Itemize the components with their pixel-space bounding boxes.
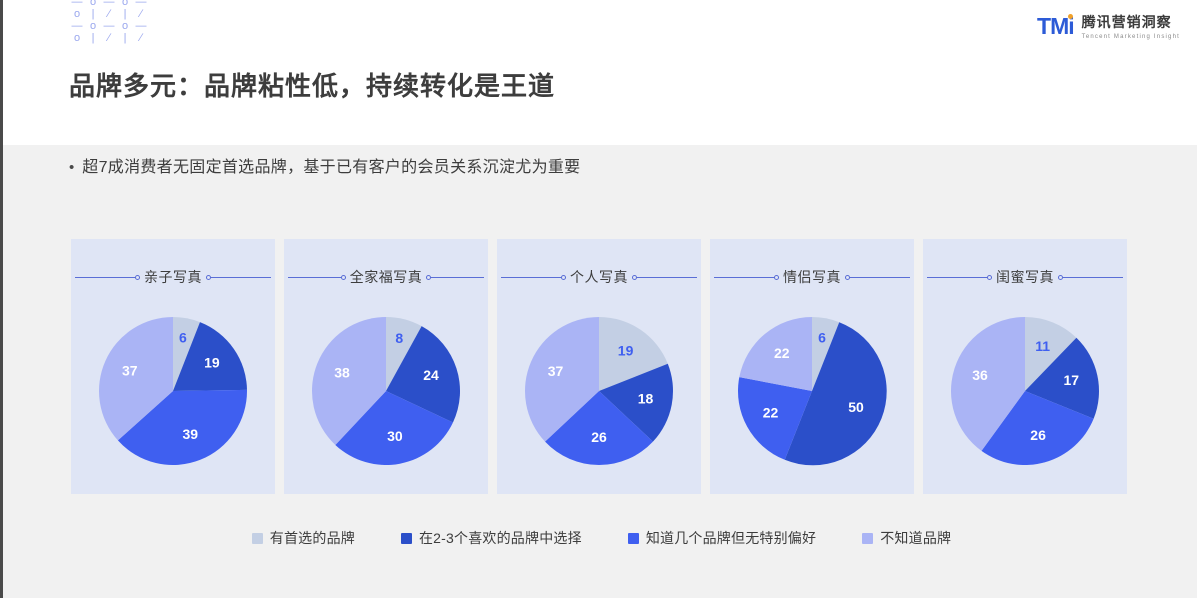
decorative-glyph: o xyxy=(69,8,85,20)
tmi-logo: TMi 腾讯营销洞察 Tencent Marketing Insight xyxy=(1037,12,1180,40)
legend-swatch-icon xyxy=(862,533,873,544)
pie-slice-value-label: 38 xyxy=(334,364,350,380)
card-title-bar: 情侣写真 xyxy=(710,267,914,287)
title-marker-right-icon xyxy=(845,275,850,280)
card-title-bar: 个人写真 xyxy=(497,267,701,287)
pie-slice-value-label: 18 xyxy=(638,391,654,407)
legend-item[interactable]: 知道几个品牌但无特别偏好 xyxy=(628,528,816,548)
pie-slice-value-label: 37 xyxy=(122,362,138,378)
logo-wordmark: 腾讯营销洞察 Tencent Marketing Insight xyxy=(1082,12,1180,40)
decorative-glyph: — xyxy=(69,20,85,32)
pie-chart-card: 情侣写真6502222 xyxy=(710,239,914,494)
card-title-bar: 全家福写真 xyxy=(284,267,488,287)
pie-chart: 6193937 xyxy=(71,297,275,487)
legend-label: 不知道品牌 xyxy=(880,528,951,548)
decorative-glyph: — xyxy=(101,0,117,8)
legend-item[interactable]: 有首选的品牌 xyxy=(252,528,355,548)
pie-chart-card: 个人写真19182637 xyxy=(497,239,701,494)
bullet-text: 超7成消费者无固定首选品牌，基于已有客户的会员关系沉淀尤为重要 xyxy=(82,157,580,179)
pie-chart-card-group: 亲子写真6193937全家福写真8243038个人写真19182637情侣写真6… xyxy=(71,239,1127,494)
page-title: 品牌多元：品牌粘性低，持续转化是王道 xyxy=(69,66,555,103)
pie-slice-value-label: 30 xyxy=(387,428,403,444)
decorative-glyph: o xyxy=(69,32,85,44)
pie-chart: 8243038 xyxy=(284,297,488,487)
legend-label: 知道几个品牌但无特别偏好 xyxy=(646,528,816,548)
logo-chinese-name: 腾讯营销洞察 xyxy=(1082,12,1180,32)
legend-swatch-icon xyxy=(401,533,412,544)
pie-chart: 6502222 xyxy=(710,297,914,487)
pie-slice-value-label: 36 xyxy=(972,367,988,383)
pie-slice-value-label: 37 xyxy=(548,363,564,379)
pie-slice-value-label: 22 xyxy=(763,405,779,421)
legend-item[interactable]: 在2-3个喜欢的品牌中选择 xyxy=(401,528,582,548)
pie-slice-value-label: 19 xyxy=(618,343,634,359)
key-insight-bullet: • 超7成消费者无固定首选品牌，基于已有客户的会员关系沉淀尤为重要 xyxy=(69,157,580,179)
decorative-glyph: o xyxy=(85,20,101,32)
decorative-glyph: — xyxy=(133,0,149,8)
bullet-dot-icon: • xyxy=(69,157,74,179)
legend-item[interactable]: 不知道品牌 xyxy=(862,528,951,548)
decorative-glyph: | xyxy=(117,32,133,44)
pie-chart: 11172636 xyxy=(923,297,1127,487)
decorative-glyph: ∕ xyxy=(101,32,117,44)
pie-chart-card: 全家福写真8243038 xyxy=(284,239,488,494)
legend-label: 在2-3个喜欢的品牌中选择 xyxy=(419,528,582,548)
legend-swatch-icon xyxy=(252,533,263,544)
slide-header: —o—o—o|∕|∕—o—o—o|∕|∕ TMi 腾讯营销洞察 Tencent … xyxy=(3,0,1197,145)
legend-swatch-icon xyxy=(628,533,639,544)
card-title-bar: 闺蜜写真 xyxy=(923,267,1127,287)
logo-mark: TMi xyxy=(1037,13,1074,40)
pie-slice-value-label: 11 xyxy=(1035,338,1050,354)
decorative-glyph: | xyxy=(117,8,133,20)
title-marker-right-icon xyxy=(1058,275,1063,280)
pie-slice-value-label: 50 xyxy=(848,399,864,415)
chart-legend: 有首选的品牌在2-3个喜欢的品牌中选择知道几个品牌但无特别偏好不知道品牌 xyxy=(3,528,1197,548)
pie-slice-value-label: 24 xyxy=(423,367,439,383)
decorative-glyph: — xyxy=(101,20,117,32)
card-title: 亲子写真 xyxy=(140,267,206,287)
decorative-glyph: — xyxy=(133,20,149,32)
pie-chart: 19182637 xyxy=(497,297,701,487)
title-marker-right-icon xyxy=(426,275,431,280)
pie-slice-value-label: 39 xyxy=(183,426,199,442)
pie-slice-value-label: 6 xyxy=(818,329,826,345)
pie-chart-card: 闺蜜写真11172636 xyxy=(923,239,1127,494)
title-marker-right-icon xyxy=(632,275,637,280)
decorative-glyph: | xyxy=(85,8,101,20)
decorative-glyph: o xyxy=(117,0,133,8)
card-title: 情侣写真 xyxy=(779,267,845,287)
decorative-glyph: ∕ xyxy=(133,8,149,20)
card-title: 闺蜜写真 xyxy=(992,267,1058,287)
decorative-glyph: ∕ xyxy=(101,8,117,20)
legend-label: 有首选的品牌 xyxy=(270,528,355,548)
pie-slice-value-label: 26 xyxy=(591,429,607,445)
title-marker-right-icon xyxy=(206,275,211,280)
pie-chart-card: 亲子写真6193937 xyxy=(71,239,275,494)
pie-slice-value-label: 19 xyxy=(204,355,220,371)
decorative-pattern-icon: —o—o—o|∕|∕—o—o—o|∕|∕ xyxy=(69,0,149,44)
logo-english-name: Tencent Marketing Insight xyxy=(1082,34,1180,40)
decorative-glyph: o xyxy=(85,0,101,8)
card-title-bar: 亲子写真 xyxy=(71,267,275,287)
pie-slice-value-label: 17 xyxy=(1064,372,1080,388)
slide-root: —o—o—o|∕|∕—o—o—o|∕|∕ TMi 腾讯营销洞察 Tencent … xyxy=(0,0,1197,598)
pie-slice-value-label: 8 xyxy=(395,330,403,346)
card-title: 个人写真 xyxy=(566,267,632,287)
card-title: 全家福写真 xyxy=(346,267,427,287)
pie-slice-value-label: 26 xyxy=(1030,427,1046,443)
pie-slice-value-label: 6 xyxy=(179,329,187,345)
decorative-glyph: o xyxy=(117,20,133,32)
logo-dot-icon xyxy=(1068,14,1073,19)
pie-slice-value-label: 22 xyxy=(774,345,790,361)
decorative-glyph: ∕ xyxy=(133,32,149,44)
decorative-glyph: | xyxy=(85,32,101,44)
decorative-glyph: — xyxy=(69,0,85,8)
